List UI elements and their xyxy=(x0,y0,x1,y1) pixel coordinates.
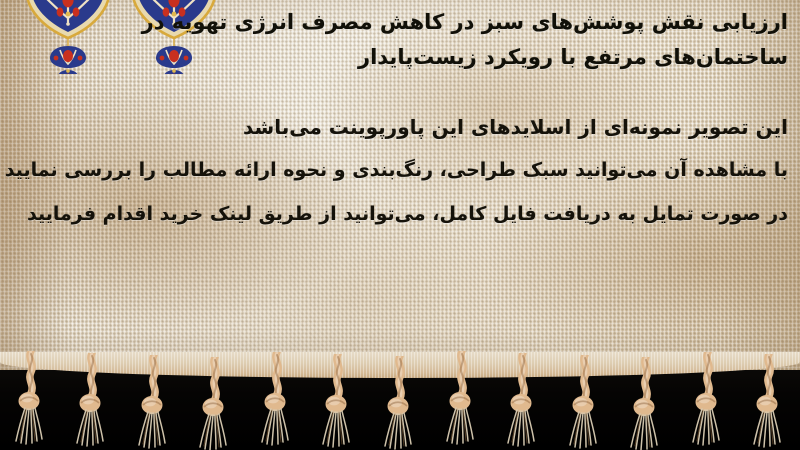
fringe-tassel xyxy=(434,351,490,447)
fringe-tassel xyxy=(126,355,182,450)
fringe-tassel xyxy=(187,357,243,450)
fringe-tassel xyxy=(310,354,366,450)
slide-body-line-1: این تصویر نمونه‌ای از اسلایدهای این پاور… xyxy=(243,117,788,137)
fringe-tassel xyxy=(249,352,305,448)
slide-body-line-2: با مشاهده آن می‌توانید سبک طراحی، رنگ‌بن… xyxy=(5,161,788,180)
carpet-fringe xyxy=(0,352,800,450)
slide-title-line-2: ساختمان‌های مرتفع با رویکرد زیست‌پایدار xyxy=(358,47,788,68)
fringe-tassel xyxy=(3,351,59,447)
fringe-tassel xyxy=(741,354,797,450)
fringe-tassel xyxy=(557,355,613,450)
fringe-tassel xyxy=(680,352,736,448)
fringe-tassel xyxy=(495,353,551,449)
slide-title-line-1: ارزیابی نقش پوشش‌های سبز در کاهش مصرف ان… xyxy=(142,12,788,33)
fringe-tassel xyxy=(64,353,120,449)
slide-text-block: ارزیابی نقش پوشش‌های سبز در کاهش مصرف ان… xyxy=(0,0,800,372)
slide-body-line-3: در صورت تمایل به دریافت فایل کامل، می‌تو… xyxy=(27,205,788,224)
presentation-slide: ارزیابی نقش پوشش‌های سبز در کاهش مصرف ان… xyxy=(0,0,800,450)
fringe-tassel xyxy=(372,356,428,450)
fringe-tassel xyxy=(618,357,674,450)
